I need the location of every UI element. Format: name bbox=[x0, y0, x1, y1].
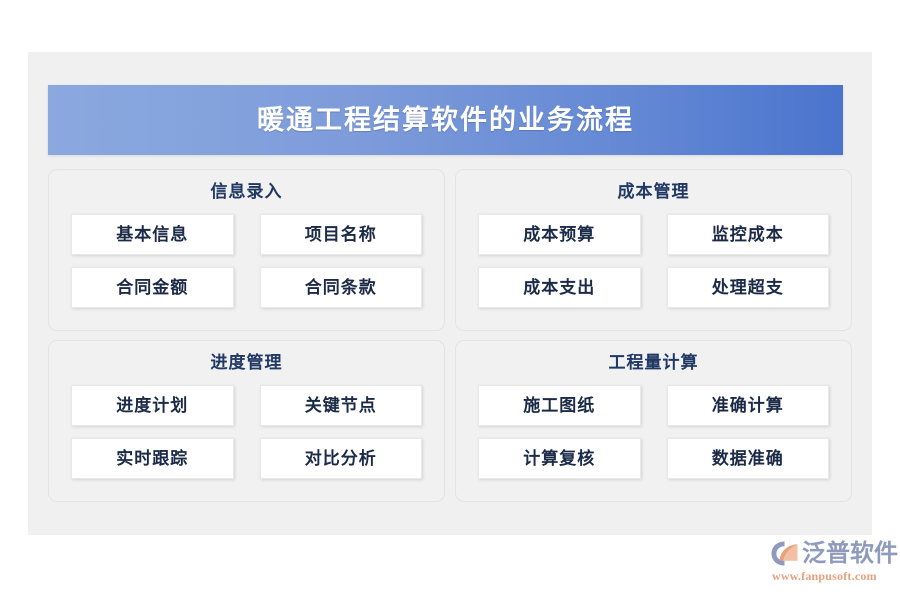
panel-item-grid: 进度计划 关键节点 实时跟踪 对比分析 bbox=[71, 385, 422, 479]
process-item-card[interactable]: 准确计算 bbox=[667, 385, 830, 426]
brand-url: www.fanpusoft.com bbox=[772, 570, 877, 582]
process-item-label: 处理超支 bbox=[712, 279, 784, 296]
panel-title: 信息录入 bbox=[71, 179, 422, 205]
panel-progress-management: 进度管理 进度计划 关键节点 实时跟踪 对比分析 bbox=[48, 340, 445, 502]
process-item-label: 合同条款 bbox=[305, 279, 377, 296]
panel-title: 进度管理 bbox=[71, 350, 422, 376]
process-item-label: 施工图纸 bbox=[523, 397, 595, 414]
panel-title: 成本管理 bbox=[478, 179, 829, 205]
process-item-label: 准确计算 bbox=[712, 397, 784, 414]
process-item-card[interactable]: 处理超支 bbox=[667, 267, 830, 308]
process-item-label: 关键节点 bbox=[305, 397, 377, 414]
page-banner: 暖通工程结算软件的业务流程 bbox=[48, 85, 843, 155]
page-title: 暖通工程结算软件的业务流程 bbox=[257, 107, 634, 134]
process-item-label: 成本支出 bbox=[523, 279, 595, 296]
process-item-label: 基本信息 bbox=[116, 226, 188, 243]
panel-item-grid: 成本预算 监控成本 成本支出 处理超支 bbox=[478, 214, 829, 308]
process-item-card[interactable]: 项目名称 bbox=[260, 214, 423, 255]
process-item-card[interactable]: 成本预算 bbox=[478, 214, 641, 255]
content-stage: 暖通工程结算软件的业务流程 信息录入 基本信息 项目名称 合同金额 合同条款 bbox=[28, 52, 872, 535]
process-item-card[interactable]: 数据准确 bbox=[667, 438, 830, 479]
process-item-card[interactable]: 监控成本 bbox=[667, 214, 830, 255]
process-item-card[interactable]: 成本支出 bbox=[478, 267, 641, 308]
brand-name: 泛普软件 bbox=[802, 542, 898, 566]
panel-item-grid: 施工图纸 准确计算 计算复核 数据准确 bbox=[478, 385, 829, 479]
process-item-card[interactable]: 关键节点 bbox=[260, 385, 423, 426]
process-item-label: 对比分析 bbox=[305, 450, 377, 467]
process-item-label: 计算复核 bbox=[523, 450, 595, 467]
process-item-card[interactable]: 合同金额 bbox=[71, 267, 234, 308]
process-item-card[interactable]: 施工图纸 bbox=[478, 385, 641, 426]
process-panel-grid: 信息录入 基本信息 项目名称 合同金额 合同条款 成本管理 bbox=[48, 169, 852, 502]
process-item-label: 成本预算 bbox=[523, 226, 595, 243]
process-item-card[interactable]: 基本信息 bbox=[71, 214, 234, 255]
process-item-label: 合同金额 bbox=[116, 279, 188, 296]
panel-item-grid: 基本信息 项目名称 合同金额 合同条款 bbox=[71, 214, 422, 308]
panel-information-entry: 信息录入 基本信息 项目名称 合同金额 合同条款 bbox=[48, 169, 445, 331]
process-item-card[interactable]: 合同条款 bbox=[260, 267, 423, 308]
process-item-card[interactable]: 计算复核 bbox=[478, 438, 641, 479]
panel-cost-management: 成本管理 成本预算 监控成本 成本支出 处理超支 bbox=[455, 169, 852, 331]
process-item-card[interactable]: 对比分析 bbox=[260, 438, 423, 479]
panel-title: 工程量计算 bbox=[478, 350, 829, 376]
process-item-label: 进度计划 bbox=[116, 397, 188, 414]
process-item-card[interactable]: 进度计划 bbox=[71, 385, 234, 426]
process-item-card[interactable]: 实时跟踪 bbox=[71, 438, 234, 479]
process-item-label: 监控成本 bbox=[712, 226, 784, 243]
panel-quantity-calculation: 工程量计算 施工图纸 准确计算 计算复核 数据准确 bbox=[455, 340, 852, 502]
fanpu-logo-icon bbox=[770, 540, 800, 567]
process-item-label: 实时跟踪 bbox=[116, 450, 188, 467]
process-item-label: 项目名称 bbox=[305, 226, 377, 243]
process-item-label: 数据准确 bbox=[712, 450, 784, 467]
brand-row: 泛普软件 bbox=[770, 540, 898, 567]
brand-watermark: 泛普软件 www.fanpusoft.com bbox=[770, 540, 898, 582]
